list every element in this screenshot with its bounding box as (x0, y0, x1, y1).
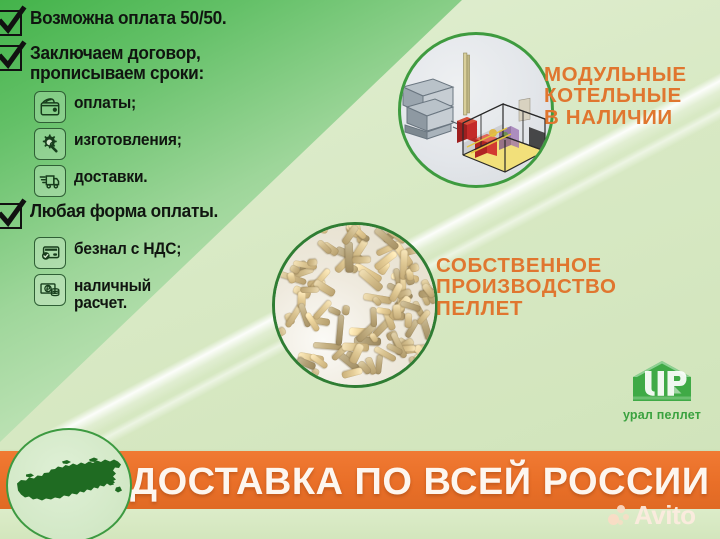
checkmark-icon (0, 45, 22, 71)
wallet-icon (34, 91, 66, 123)
list-item-label: изготовления; (74, 132, 182, 149)
logo-company-name: урал пеллет (612, 408, 712, 422)
list-item-label: Любая форма оплаты. (30, 201, 218, 221)
modular-boiler-photo (398, 32, 554, 188)
advertisement-poster: Возможна оплата 50/50. Заключаем договор… (0, 0, 720, 539)
boiler-3d-render (401, 35, 551, 185)
list-item: доставки. (34, 164, 290, 197)
avito-watermark: Avito (608, 500, 696, 531)
credit-card-icon (34, 237, 66, 269)
list-item: наличный расчет. (34, 273, 290, 313)
truck-icon (34, 165, 66, 197)
headline-own-pellet-production: СОБСТВЕННОЕ ПРОИЗВОДСТВО ПЕЛЛЕТ (436, 255, 617, 319)
russia-map-badge (6, 428, 132, 539)
russia-map-silhouette-icon (14, 452, 124, 518)
headline-modular-boilers: МОДУЛЬНЫЕ КОТЕЛЬНЫЕ В НАЛИЧИИ (544, 64, 687, 128)
feature-list: Возможна оплата 50/50. Заключаем договор… (0, 8, 290, 317)
company-logo: урал пеллет (612, 360, 712, 422)
list-item: Заключаем договор, прописываем сроки: (0, 43, 290, 83)
list-item: Возможна оплата 50/50. (0, 8, 290, 36)
gear-wrench-icon (34, 128, 66, 160)
checkmark-icon (0, 10, 22, 36)
wood-pellets-photo (272, 222, 438, 388)
avito-watermark-label: Avito (634, 500, 696, 531)
list-item: оплаты; (34, 90, 290, 123)
avito-logo-icon (608, 505, 630, 527)
list-item: изготовления; (34, 127, 290, 160)
list-item-label: доставки. (74, 169, 147, 186)
list-item-label: Заключаем договор, прописываем сроки: (30, 43, 204, 83)
list-item: Любая форма оплаты. (0, 201, 290, 229)
list-item-label: наличный расчет. (74, 278, 151, 313)
cash-ruble-icon (34, 274, 66, 306)
checkmark-icon (0, 203, 22, 229)
delivery-banner-text: ДОСТАВКА ПО ВСЕЙ РОССИИ (130, 459, 720, 505)
list-item-label: безнал с НДС; (74, 241, 181, 258)
list-item-label: Возможна оплата 50/50. (30, 8, 226, 28)
list-item-label: оплаты; (74, 95, 136, 112)
list-item: безнал с НДС; (34, 236, 290, 269)
house-monogram-icon (631, 360, 693, 402)
